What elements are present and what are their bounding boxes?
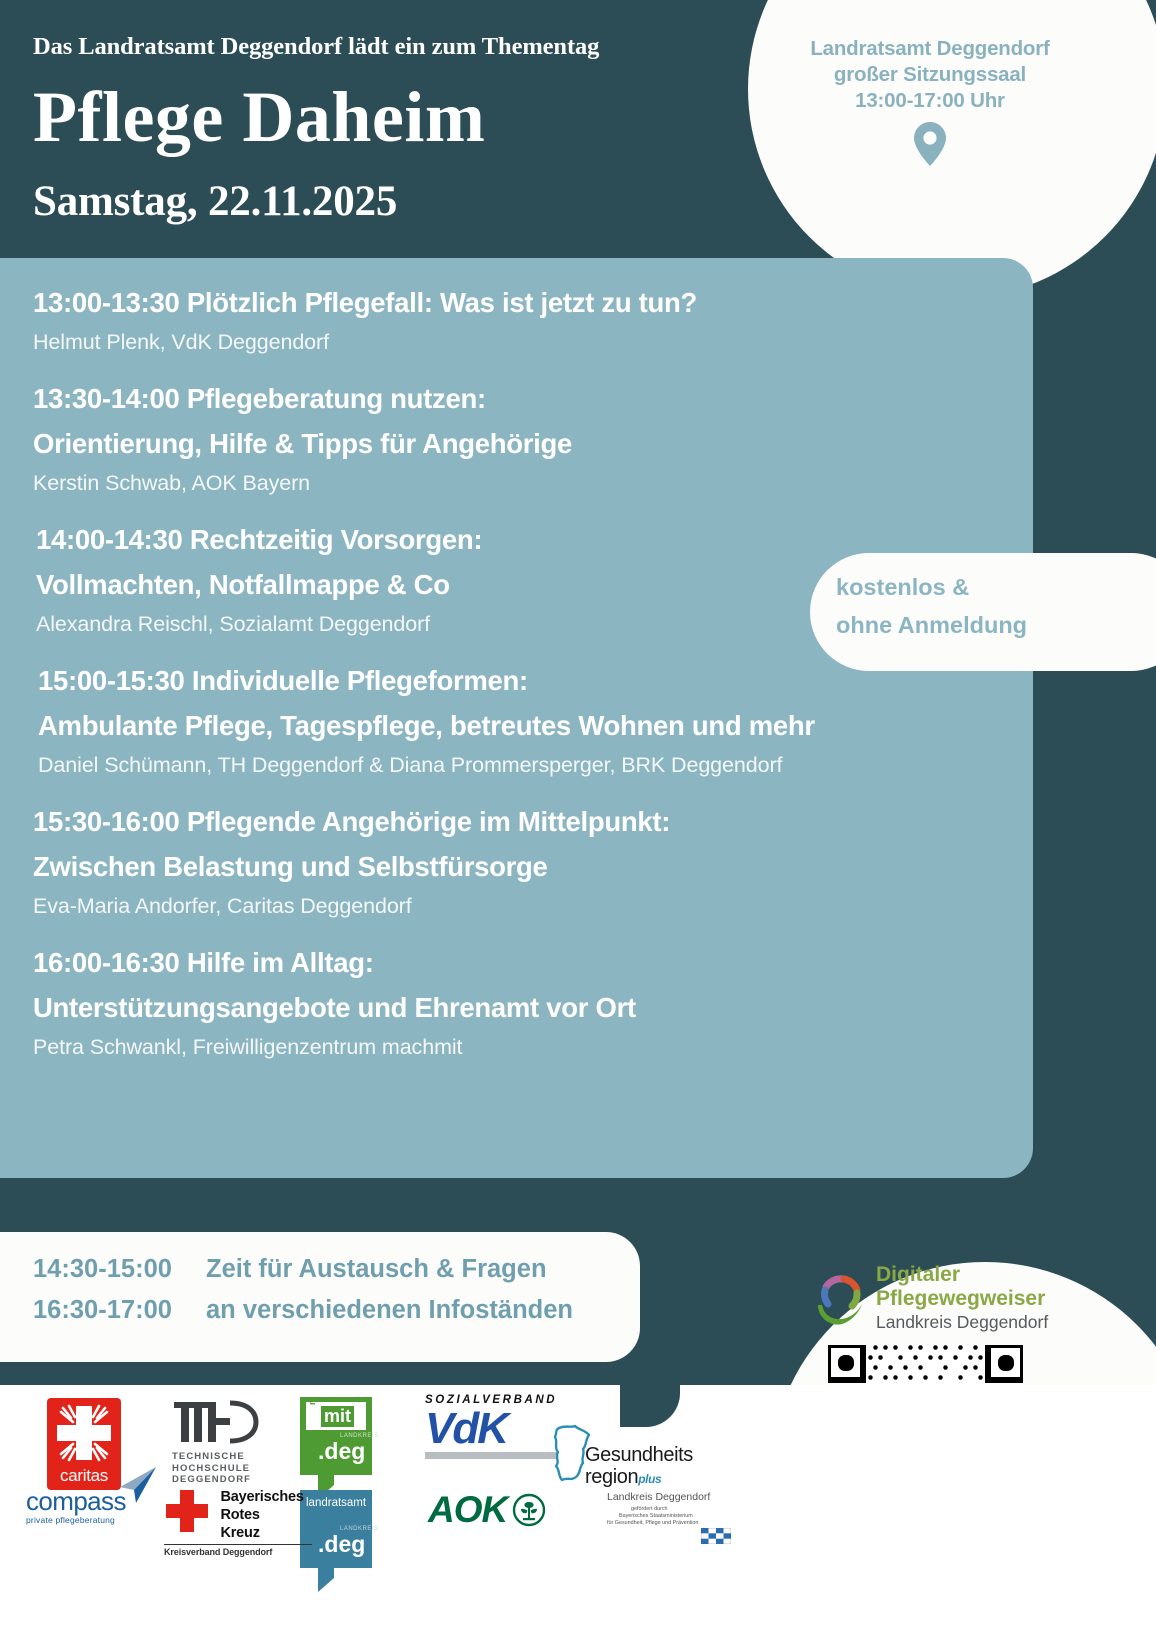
pflegewegweiser-line-3: Landkreis Deggendorf <box>876 1311 1048 1333</box>
header-kicker: Das Landratsamt Deggendorf lädt ein zum … <box>33 33 599 61</box>
program-item: 13:30-14:00 Pflegeberatung nutzen: Orien… <box>0 376 1050 500</box>
page-title: Pflege Daheim <box>33 78 485 156</box>
venue-info: Landratsamt Deggendorf großer Sitzungssa… <box>770 36 1090 168</box>
break-text: Zeit für Austausch & Fragen <box>206 1249 547 1290</box>
logo-gr-line-1: Gesundheits <box>585 1444 765 1466</box>
break-row: 16:30-17:00 an verschiedenen Infoständen <box>33 1290 573 1331</box>
logo-machmit-mach: mach <box>307 1402 317 1405</box>
logo-brk-line-2: Rotes <box>220 1506 303 1524</box>
logo-brk-line-3: Kreuz <box>220 1524 303 1542</box>
aok-plant-icon <box>512 1493 546 1527</box>
logo-vdk: SOZIALVERBAND VdK <box>425 1394 560 1459</box>
break-text: an verschiedenen Infoständen <box>206 1290 573 1331</box>
logo-thd-line-2: HOCHSCHULE <box>172 1463 272 1475</box>
pflegewegweiser-line-1: Digitaler <box>876 1263 1048 1287</box>
logo-brk: Bayerisches Rotes Kreuz Kreisverband Deg… <box>164 1488 314 1557</box>
free-badge-text: kostenlos & ohne Anmeldung <box>836 568 1027 644</box>
landratsamt-bubble-tail <box>318 1568 334 1592</box>
free-badge-line-2: ohne Anmeldung <box>836 606 1027 644</box>
logo-brk-line-1: Bayerisches <box>220 1488 303 1506</box>
program-item-title-line2: Orientierung, Hilfe & Tipps für Angehöri… <box>33 421 1050 466</box>
program-item-title-line2: Unterstützungsangebote und Ehrenamt vor … <box>33 985 1050 1030</box>
logo-gesundheitsregion: Gesundheits regionplus Landkreis Deggend… <box>585 1444 765 1527</box>
break-time: 16:30-17:00 <box>33 1290 206 1331</box>
logo-aok: AOK <box>428 1490 548 1530</box>
break-info: 14:30-15:00 Zeit für Austausch & Fragen … <box>33 1249 573 1331</box>
program-item-speaker: Daniel Schümann, TH Deggendorf & Diana P… <box>38 748 1050 782</box>
logo-gr-line-2: regionplus <box>585 1466 765 1490</box>
map-pin-icon <box>908 120 952 168</box>
break-row: 14:30-15:00 Zeit für Austausch & Fragen <box>33 1249 573 1290</box>
bavaria-flag-icon <box>701 1528 731 1544</box>
program-item-title: 16:00-16:30 Hilfe im Alltag: <box>33 940 1050 985</box>
poster-header: Das Landratsamt Deggendorf lädt ein zum … <box>0 0 1156 258</box>
logo-thd: TECHNISCHE HOCHSCHULE DEGGENDORF <box>172 1400 272 1486</box>
program-item-title-line2: Ambulante Pflege, Tagespflege, betreutes… <box>38 703 1050 748</box>
logo-machmit-mit: mit <box>321 1406 354 1427</box>
logo-compass: compass private pflegeberatung <box>26 1487 156 1525</box>
pflegewegweiser-ring-icon <box>812 1267 870 1334</box>
bavaria-outline-icon <box>549 1422 595 1490</box>
logo-landratsamt-deg: .deg <box>318 1532 365 1557</box>
program-item-title-line2: Zwischen Belastung und Selbstfürsorge <box>33 844 1050 889</box>
program-item-speaker: Eva-Maria Andorfer, Caritas Deggendorf <box>33 889 1050 923</box>
logo-landratsamt-word: landratsamt <box>306 1497 366 1509</box>
machmit-wordmark-box: mach mit <box>306 1402 366 1430</box>
logo-gr-line-4: gefördert durch <box>585 1506 765 1513</box>
poster: Das Landratsamt Deggendorf lädt ein zum … <box>0 0 1156 1630</box>
venue-line-1: Landratsamt Deggendorf <box>770 36 1090 62</box>
logo-machmit: mach mit LANDKREIS .deg <box>300 1397 372 1475</box>
program-item: 13:00-13:30 Plötzlich Pflegefall: Was is… <box>0 280 1050 359</box>
logo-brk-sub: Kreisverband Deggendorf <box>164 1544 312 1557</box>
logo-compass-sub: private pflegeberatung <box>26 1515 156 1525</box>
pflegewegweiser-text: Digitaler Pflegewegweiser Landkreis Degg… <box>876 1263 1048 1333</box>
header-date: Samstag, 22.11.2025 <box>33 178 397 226</box>
venue-line-3: 13:00-17:00 Uhr <box>770 88 1090 114</box>
free-badge-line-1: kostenlos & <box>836 568 1027 606</box>
program-item-title: 15:30-16:00 Pflegende Angehörige im Mitt… <box>33 799 1050 844</box>
logo-gr-line-6: für Gesundheit, Pflege und Prävention <box>585 1520 765 1527</box>
logo-brk-words: Bayerisches Rotes Kreuz <box>214 1488 303 1542</box>
logo-gr-plus: plus <box>638 1472 661 1486</box>
break-time: 14:30-15:00 <box>33 1249 206 1290</box>
program-item-title: 13:30-14:00 Pflegeberatung nutzen: <box>33 376 1050 421</box>
pflegewegweiser-line-2: Pflegewegweiser <box>876 1287 1048 1311</box>
venue-line-2: großer Sitzungssaal <box>770 62 1090 88</box>
program-item-title: 13:00-13:30 Plötzlich Pflegefall: Was is… <box>33 280 1050 325</box>
red-cross-icon <box>164 1488 210 1539</box>
sponsor-logos: caritas TECHNISCHE HOCHSCHULE DEGGENDORF <box>0 1385 800 1630</box>
program-item: 15:30-16:00 Pflegende Angehörige im Mitt… <box>0 799 1050 923</box>
logo-aok-word: AOK <box>428 1490 507 1530</box>
logo-gr-line-5: Bayerisches Staatsministerium <box>585 1513 765 1520</box>
pflegewegweiser-logo: Digitaler Pflegewegweiser Landkreis Degg… <box>812 1263 1082 1335</box>
program-item-speaker: Petra Schwankl, Freiwilligenzentrum mach… <box>33 1030 1050 1064</box>
logo-thd-line-3: DEGGENDORF <box>172 1474 272 1486</box>
program-item-speaker: Helmut Plenk, VdK Deggendorf <box>33 325 1050 359</box>
logo-vdk-main: VdK <box>425 1406 560 1452</box>
program-item: 16:00-16:30 Hilfe im Alltag: Unterstützu… <box>0 940 1050 1064</box>
thd-monogram-icon <box>172 1400 262 1444</box>
logo-gr-line-3: Landkreis Deggendorf <box>585 1490 765 1504</box>
program-item-speaker: Kerstin Schwab, AOK Bayern <box>33 466 1050 500</box>
program-item: 15:00-15:30 Individuelle Pflegeformen: A… <box>0 658 1050 782</box>
logo-machmit-deg: .deg <box>318 1439 365 1464</box>
logo-vdk-underbar <box>425 1452 557 1459</box>
logo-thd-line-1: TECHNISCHE <box>172 1451 272 1463</box>
paper-plane-icon <box>110 1465 160 1505</box>
